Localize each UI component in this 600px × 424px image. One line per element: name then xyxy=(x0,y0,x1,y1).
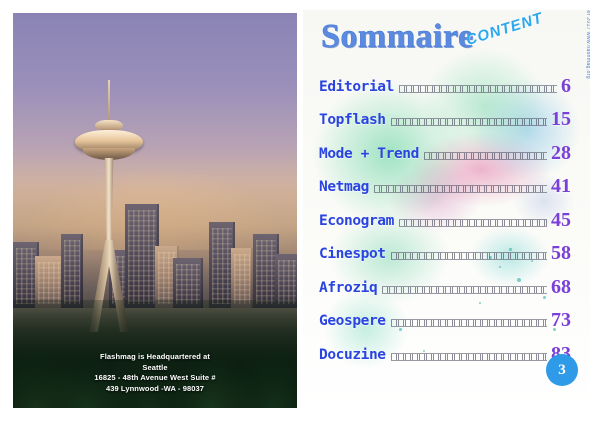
caption-line-4: 439 Lynnwood -WA - 98037 xyxy=(13,384,297,395)
toc-entry-label: Topflash xyxy=(319,112,386,129)
toc-entry[interactable]: Cinespot 58 xyxy=(319,230,571,264)
needle-spire xyxy=(108,80,110,122)
toc-entry-page: 6 xyxy=(561,76,571,96)
toc-leader-dots xyxy=(391,353,547,361)
table-of-contents: Editorial 6 Topflash 15 Mode + Trend 28 … xyxy=(319,62,571,364)
right-page: Sommaire CONTENT Editorial 6 Topflash 15… xyxy=(303,10,590,408)
toc-entry-label: Econogram xyxy=(319,213,394,230)
city-skyline xyxy=(13,178,297,308)
caption-line-1: Flashmag is Headquartered at xyxy=(13,352,297,363)
page-number-badge: 3 xyxy=(546,354,578,386)
toc-entry[interactable]: Docuzine 83 xyxy=(319,330,571,364)
toc-entry[interactable]: Geospere 73 xyxy=(319,297,571,331)
toc-entry[interactable]: Topflash 15 xyxy=(319,96,571,130)
left-page: Flashmag is Headquartered at Seattle 168… xyxy=(13,13,297,408)
toc-entry-page: 68 xyxy=(551,277,571,297)
toc-entry-label: Mode + Trend xyxy=(319,146,419,163)
toc-leader-dots xyxy=(391,252,547,260)
toc-entry-label: Cinespot xyxy=(319,246,386,263)
toc-entry[interactable]: Editorial 6 xyxy=(319,62,571,96)
toc-entry-page: 58 xyxy=(551,243,571,263)
toc-entry[interactable]: Netmag 41 xyxy=(319,163,571,197)
toc-entry-page: 28 xyxy=(551,143,571,163)
space-needle xyxy=(71,80,147,330)
toc-entry[interactable]: Mode + Trend 28 xyxy=(319,129,571,163)
toc-entry-page: 73 xyxy=(551,310,571,330)
toc-leader-dots xyxy=(399,85,557,93)
contents-title-group: Sommaire CONTENT xyxy=(321,18,571,64)
toc-entry[interactable]: Afroziq 68 xyxy=(319,263,571,297)
toc-entry-label: Editorial xyxy=(319,79,394,96)
toc-leader-dots xyxy=(399,219,547,227)
caption-line-3: 16825 - 48th Avenue West Suite # xyxy=(13,373,297,384)
side-credit-text: Flashmag October 2017 www.flashmag.org xyxy=(585,10,590,138)
building xyxy=(231,248,253,308)
toc-entry-label: Geospere xyxy=(319,313,386,330)
caption-line-2: Seattle xyxy=(13,363,297,374)
magazine-spread: Flashmag is Headquartered at Seattle 168… xyxy=(0,0,600,424)
toc-entry-label: Afroziq xyxy=(319,280,377,297)
toc-leader-dots xyxy=(391,319,547,327)
toc-entry-page: 15 xyxy=(551,109,571,129)
page-title: Sommaire xyxy=(321,18,474,56)
toc-leader-dots xyxy=(382,286,547,294)
toc-entry-page: 41 xyxy=(551,176,571,196)
photo-caption: Flashmag is Headquartered at Seattle 168… xyxy=(13,352,297,394)
seattle-skyline-photo: Flashmag is Headquartered at Seattle 168… xyxy=(13,13,297,408)
toc-entry[interactable]: Econogram 45 xyxy=(319,196,571,230)
toc-leader-dots xyxy=(424,152,547,160)
needle-shaft xyxy=(100,158,118,250)
toc-entry-label: Netmag xyxy=(319,179,369,196)
toc-entry-label: Docuzine xyxy=(319,347,386,364)
toc-entry-page: 45 xyxy=(551,210,571,230)
toc-leader-dots xyxy=(391,118,547,126)
toc-leader-dots xyxy=(374,185,547,193)
